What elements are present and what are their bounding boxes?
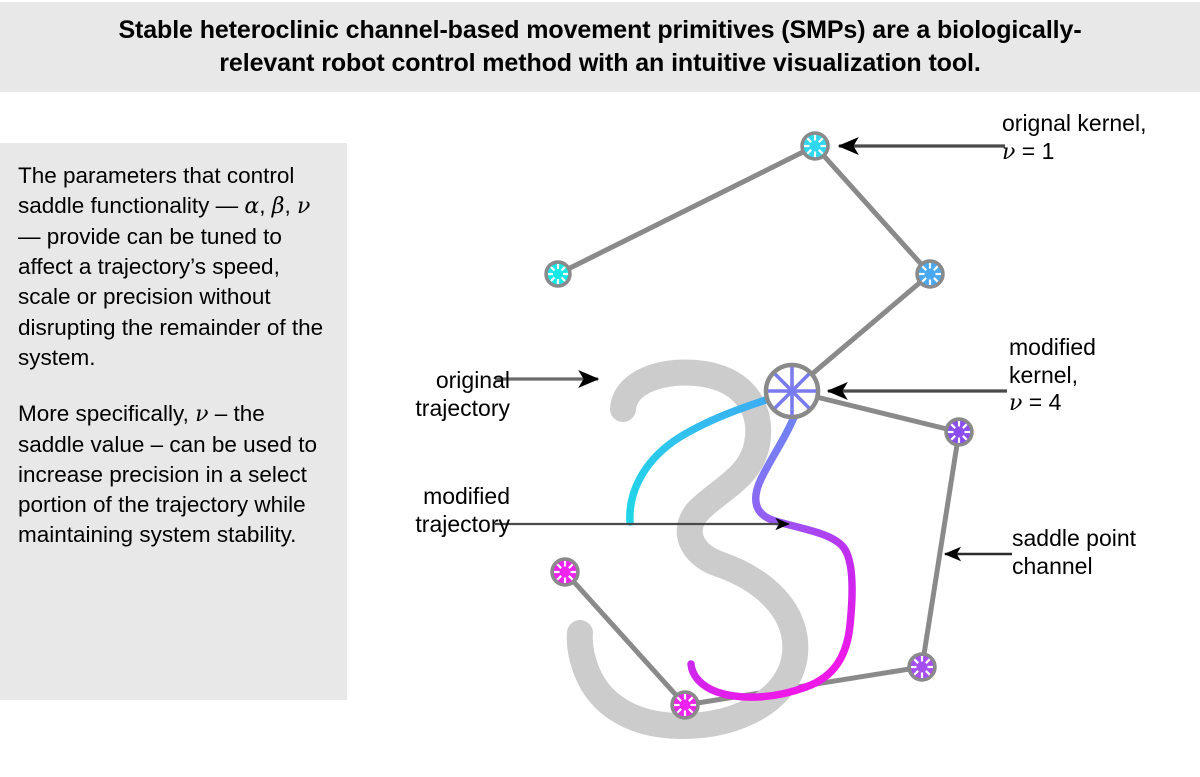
label-original-traj-line2: trajectory	[375, 395, 510, 423]
kernel-node-modified-center[interactable]	[766, 365, 818, 417]
reference-trajectory-path	[580, 372, 796, 726]
label-modified-traj-line1: modified	[375, 483, 510, 511]
edge-violetright-purplelow	[922, 432, 959, 667]
smp-diagram-svg	[347, 92, 1200, 777]
smp-diagram	[347, 92, 1200, 777]
label-saddle-channel-line2: channel	[1012, 553, 1136, 581]
nu-symbol-2: ν	[195, 402, 208, 427]
page-title: Stable heteroclinic channel-based moveme…	[95, 14, 1105, 80]
alpha-symbol: α	[244, 194, 259, 219]
label-modified-kernel-line3: ν = 4	[1009, 389, 1096, 417]
description-panel: The parameters that control saddle funct…	[0, 143, 347, 700]
label-modified-trajectory: modified trajectory	[375, 483, 510, 538]
paragraph-1-sep-2: ,	[284, 193, 297, 218]
nu-symbol: ν	[297, 194, 310, 219]
original-kernel-value: = 1	[1015, 138, 1054, 164]
edge-cyanleft-cyantop	[558, 146, 815, 274]
description-paragraph-2: More specifically, ν – the saddle value …	[18, 399, 331, 551]
label-original-kernel: orignal kernel, ν = 1	[1002, 110, 1146, 166]
edge-cyantop-blueupper	[815, 146, 930, 274]
label-modified-kernel: modified kernel, ν = 4	[1009, 334, 1096, 418]
label-modified-kernel-line1: modified	[1009, 334, 1096, 362]
header-banner: Stable heteroclinic channel-based moveme…	[0, 2, 1200, 92]
kernel-node-violet-right[interactable]	[946, 419, 972, 445]
description-paragraph-1: The parameters that control saddle funct…	[18, 161, 331, 373]
label-saddle-point-channel: saddle point channel	[1012, 525, 1136, 580]
modified-kernel-value: = 4	[1022, 389, 1061, 415]
kernel-node-purple-lower[interactable]	[909, 654, 935, 680]
paragraph-1-sep-1: ,	[259, 193, 272, 218]
label-saddle-channel-line1: saddle point	[1012, 525, 1136, 553]
beta-symbol: β	[272, 194, 285, 219]
label-original-kernel-line1: orignal kernel,	[1002, 110, 1146, 138]
paragraph-2-text-a: More specifically,	[18, 401, 195, 426]
label-modified-kernel-line2: kernel,	[1009, 362, 1096, 390]
kernel-node-magenta-left[interactable]	[552, 559, 578, 585]
nu-symbol-original: ν	[1002, 140, 1015, 165]
kernel-node-blue-upper-right[interactable]	[917, 261, 943, 287]
label-original-kernel-line2: ν = 1	[1002, 138, 1146, 166]
kernel-node-cyan-top[interactable]	[802, 133, 828, 159]
nu-symbol-modified: ν	[1009, 391, 1022, 416]
label-original-traj-line1: original	[375, 367, 510, 395]
paragraph-1-text-b: — provide can be tuned to affect a traje…	[18, 224, 323, 370]
kernel-node-magenta-bottom[interactable]	[672, 692, 698, 718]
label-original-trajectory: original trajectory	[375, 367, 510, 422]
label-modified-traj-line2: trajectory	[375, 511, 510, 539]
kernel-node-cyan-left[interactable]	[546, 262, 570, 286]
